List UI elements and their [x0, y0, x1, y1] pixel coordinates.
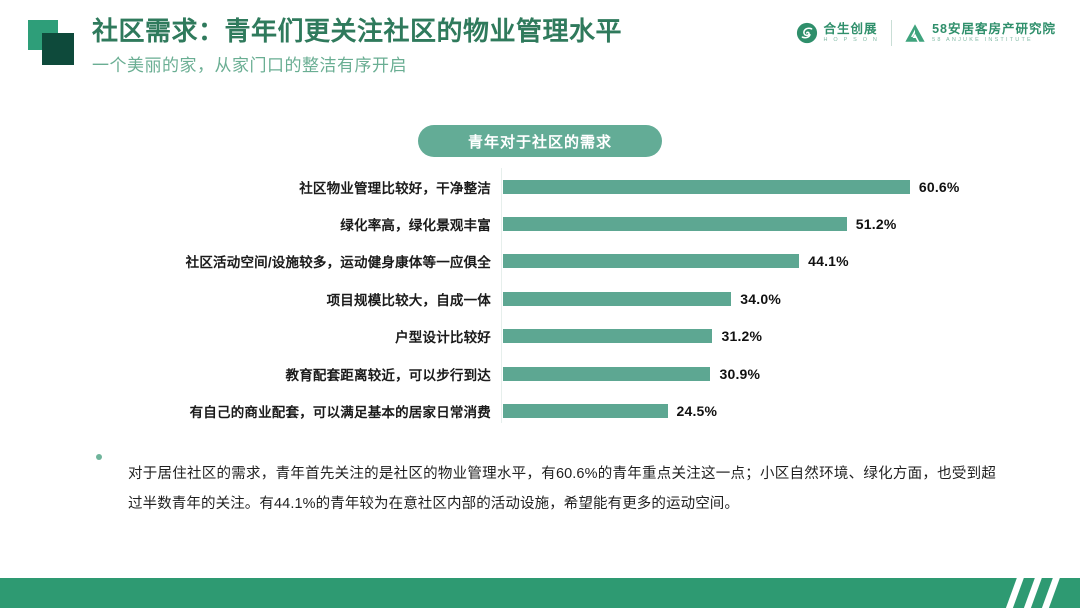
bar-category-label: 项目规模比较大，自成一体 — [11, 289, 491, 309]
diagonal-slashes-decoration-3 — [1039, 578, 1062, 608]
brand-anjuke-text: 58安居客房产研究院 58 ANJUKE INSTITUTE — [932, 23, 1056, 43]
bar-value-label: 44.1% — [808, 253, 849, 269]
brand-logos: 合生创展 H O P S O N 58安居客房产研究院 58 ANJUKE IN… — [796, 20, 1056, 46]
bar-value-label: 34.0% — [740, 291, 781, 307]
bar-value-label: 60.6% — [919, 179, 960, 195]
bar-row: 项目规模比较大，自成一体34.0% — [0, 280, 1080, 317]
bar-value-label: 31.2% — [721, 328, 762, 344]
bar-value-label: 24.5% — [677, 403, 718, 419]
bar-value-label: 51.2% — [856, 216, 897, 232]
bar-track: 51.2% — [503, 217, 1063, 231]
footnote-text: 对于居住社区的需求，青年首先关注的是社区的物业管理水平，有60.6%的青年重点关… — [128, 459, 996, 519]
bar-track: 44.1% — [503, 254, 1063, 268]
brand-anjuke-en: 58 ANJUKE INSTITUTE — [932, 38, 1056, 44]
diagonal-slashes-decoration-2 — [1021, 578, 1044, 608]
bar-row: 绿化率高，绿化景观丰富51.2% — [0, 205, 1080, 242]
brand-anjuke: 58安居客房产研究院 58 ANJUKE INSTITUTE — [904, 22, 1056, 44]
bar-fill — [503, 367, 710, 381]
bar-row: 有自己的商业配套，可以满足基本的居家日常消费24.5% — [0, 392, 1080, 429]
bar-value-label: 30.9% — [719, 366, 760, 382]
chart-panel: 青年对于社区的需求 社区物业管理比较好，干净整洁60.6%绿化率高，绿化景观丰富… — [0, 112, 1080, 434]
bar-fill — [503, 329, 712, 343]
bar-fill — [503, 404, 668, 418]
hopson-spiral-icon — [796, 22, 818, 44]
bar-category-label: 有自己的商业配套，可以满足基本的居家日常消费 — [11, 401, 491, 421]
bar-fill — [503, 180, 910, 194]
page-subtitle: 一个美丽的家，从家门口的整洁有序开启 — [92, 54, 622, 78]
bar-track: 31.2% — [503, 329, 1063, 343]
bar-track: 30.9% — [503, 367, 1063, 381]
brand-anjuke-cn: 58安居客房产研究院 — [932, 23, 1056, 36]
anjuke-triangle-icon — [904, 22, 926, 44]
bullet-dot-icon — [96, 454, 102, 460]
footnote: 对于居住社区的需求，青年首先关注的是社区的物业管理水平，有60.6%的青年重点关… — [96, 444, 996, 533]
bar-category-label: 绿化率高，绿化景观丰富 — [11, 214, 491, 234]
title-block: 社区需求：青年们更关注社区的物业管理水平 一个美丽的家，从家门口的整洁有序开启 — [92, 14, 622, 78]
slide-footer — [0, 578, 1080, 608]
brand-hopson-text: 合生创展 H O P S O N — [824, 23, 880, 43]
bar-chart: 社区物业管理比较好，干净整洁60.6%绿化率高，绿化景观丰富51.2%社区活动空… — [0, 168, 1080, 430]
bar-row: 社区物业管理比较好，干净整洁60.6% — [0, 168, 1080, 205]
bar-category-label: 户型设计比较好 — [11, 326, 491, 346]
bar-row: 社区活动空间/设施较多，运动健身康体等一应俱全44.1% — [0, 243, 1080, 280]
bar-row: 户型设计比较好31.2% — [0, 318, 1080, 355]
logo-square-front — [42, 33, 74, 65]
brand-hopson-cn: 合生创展 — [824, 23, 880, 36]
bar-track: 24.5% — [503, 404, 1063, 418]
bar-fill — [503, 217, 847, 231]
bar-fill — [503, 292, 731, 306]
slide-root: 社区需求：青年们更关注社区的物业管理水平 一个美丽的家，从家门口的整洁有序开启 … — [0, 0, 1080, 608]
brand-hopson-en: H O P S O N — [824, 38, 880, 44]
bar-track: 34.0% — [503, 292, 1063, 306]
brand-hopson: 合生创展 H O P S O N — [796, 22, 880, 44]
bar-category-label: 教育配套距离较近，可以步行到达 — [11, 364, 491, 384]
overlapping-squares-logo-icon — [28, 20, 76, 66]
bar-category-label: 社区物业管理比较好，干净整洁 — [11, 177, 491, 197]
slide-header: 社区需求：青年们更关注社区的物业管理水平 一个美丽的家，从家门口的整洁有序开启 … — [0, 0, 1080, 100]
bar-rows: 社区物业管理比较好，干净整洁60.6%绿化率高，绿化景观丰富51.2%社区活动空… — [0, 168, 1080, 430]
bar-track: 60.6% — [503, 180, 1063, 194]
bar-fill — [503, 254, 799, 268]
diagonal-slashes-decoration-1 — [1003, 578, 1026, 608]
chart-title-pill: 青年对于社区的需求 — [418, 125, 662, 157]
brand-divider — [891, 20, 892, 46]
bar-category-label: 社区活动空间/设施较多，运动健身康体等一应俱全 — [11, 251, 491, 271]
bar-row: 教育配套距离较近，可以步行到达30.9% — [0, 355, 1080, 392]
page-title: 社区需求：青年们更关注社区的物业管理水平 — [92, 14, 622, 48]
